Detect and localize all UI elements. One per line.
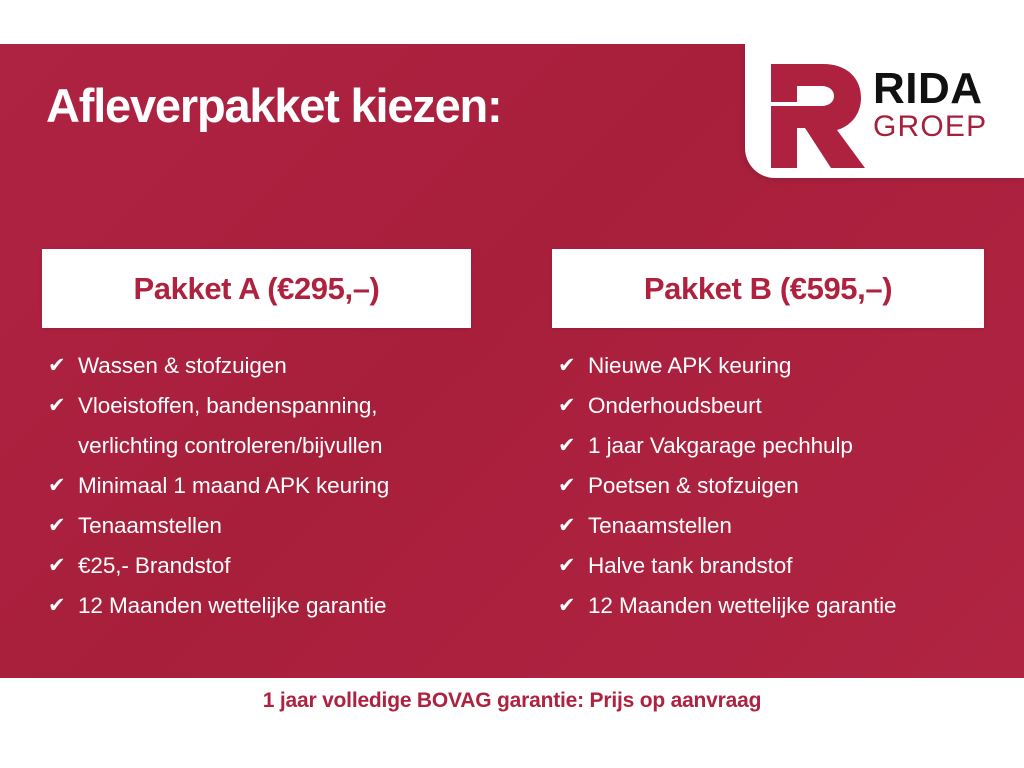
check-icon: ✔ (48, 586, 78, 626)
package-b-feature-list: ✔ Nieuwe APK keuring ✔ Onderhoudsbeurt ✔… (552, 346, 984, 626)
list-item: ✔ 12 Maanden wettelijke garantie (558, 586, 984, 626)
package-b-header[interactable]: Pakket B (€595,–) (552, 249, 984, 328)
list-item: ✔ Poetsen & stofzuigen (558, 466, 984, 506)
list-item: ✔ Vloeistoffen, bandenspanning, verlicht… (48, 386, 471, 466)
list-item: ✔ Tenaamstellen (558, 506, 984, 546)
package-column-b: Pakket B (€595,–) ✔ Nieuwe APK keuring ✔… (552, 249, 984, 626)
package-a-header[interactable]: Pakket A (€295,–) (42, 249, 471, 328)
check-icon: ✔ (558, 346, 588, 386)
footer-note: 1 jaar volledige BOVAG garantie: Prijs o… (0, 689, 1024, 713)
check-icon: ✔ (558, 386, 588, 426)
feature-text: Tenaamstellen (78, 506, 471, 546)
check-icon: ✔ (48, 506, 78, 546)
list-item: ✔ Halve tank brandstof (558, 546, 984, 586)
check-icon: ✔ (48, 346, 78, 386)
feature-text: 12 Maanden wettelijke garantie (588, 586, 984, 626)
afleverpakket-poster: Afleverpakket kiezen: RIDA GROEP Pakket … (0, 0, 1024, 768)
list-item: ✔ Minimaal 1 maand APK keuring (48, 466, 471, 506)
check-icon: ✔ (48, 466, 78, 506)
feature-text: Vloeistoffen, bandenspanning, verlichtin… (78, 386, 471, 466)
feature-text: Nieuwe APK keuring (588, 346, 984, 386)
feature-text: 12 Maanden wettelijke garantie (78, 586, 471, 626)
feature-text: Tenaamstellen (588, 506, 984, 546)
feature-text: Wassen & stofzuigen (78, 346, 471, 386)
feature-text: 1 jaar Vakgarage pechhulp (588, 426, 984, 466)
list-item: ✔ 1 jaar Vakgarage pechhulp (558, 426, 984, 466)
check-icon: ✔ (48, 386, 78, 426)
footer-band: 1 jaar volledige BOVAG garantie: Prijs o… (0, 678, 1024, 768)
list-item: ✔ Nieuwe APK keuring (558, 346, 984, 386)
packages-container: Pakket A (€295,–) ✔ Wassen & stofzuigen … (0, 44, 1024, 678)
check-icon: ✔ (558, 586, 588, 626)
list-item: ✔ €25,- Brandstof (48, 546, 471, 586)
check-icon: ✔ (558, 506, 588, 546)
list-item: ✔ Wassen & stofzuigen (48, 346, 471, 386)
feature-text: Onderhoudsbeurt (588, 386, 984, 426)
feature-text: Poetsen & stofzuigen (588, 466, 984, 506)
check-icon: ✔ (558, 466, 588, 506)
package-a-feature-list: ✔ Wassen & stofzuigen ✔ Vloeistoffen, ba… (42, 346, 471, 626)
list-item: ✔ Tenaamstellen (48, 506, 471, 546)
check-icon: ✔ (48, 546, 78, 586)
check-icon: ✔ (558, 546, 588, 586)
package-a-title: Pakket A (€295,–) (134, 271, 380, 307)
list-item: ✔ Onderhoudsbeurt (558, 386, 984, 426)
check-icon: ✔ (558, 426, 588, 466)
list-item: ✔ 12 Maanden wettelijke garantie (48, 586, 471, 626)
package-b-title: Pakket B (€595,–) (644, 271, 892, 307)
package-column-a: Pakket A (€295,–) ✔ Wassen & stofzuigen … (42, 249, 471, 626)
feature-text: €25,- Brandstof (78, 546, 471, 586)
feature-text: Minimaal 1 maand APK keuring (78, 466, 471, 506)
feature-text: Halve tank brandstof (588, 546, 984, 586)
red-background-panel: Afleverpakket kiezen: RIDA GROEP Pakket … (0, 44, 1024, 678)
